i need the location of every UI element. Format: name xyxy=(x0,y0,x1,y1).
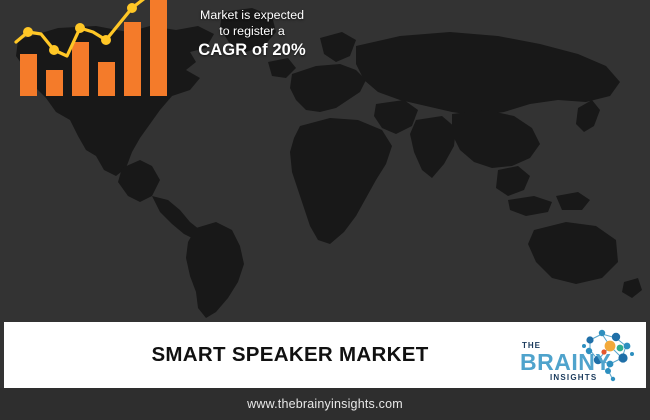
quadrant-component-segment: Based on the Component segment, the Soft… xyxy=(325,160,650,322)
infographic-canvas: Market is expected to register a CAGR of… xyxy=(0,0,650,420)
cagr-line-1: Market is expected xyxy=(176,7,328,23)
cagr-line-2: to register a xyxy=(176,23,328,39)
quadrant-cagr: Market is expected to register a CAGR of… xyxy=(0,0,325,160)
brainy-insights-logo[interactable]: THE BRAINY INSIGHTS xyxy=(516,325,638,385)
growth-bar-line-chart xyxy=(14,0,186,96)
bar-series xyxy=(20,0,167,96)
quadrant-asia-pacific: 44% of the global market share was accou… xyxy=(325,0,650,160)
website-url[interactable]: www.thebrainyinsights.com xyxy=(0,388,650,420)
cagr-value: CAGR of 20% xyxy=(176,40,328,62)
footer-band: SMART SPEAKER MARKET xyxy=(4,322,646,388)
quadrant-market-value: % The market was valued at USD 8 billion… xyxy=(0,160,325,322)
logo-brainy: BRAINY xyxy=(520,349,611,375)
stat-cagr-text: Market is expected to register a CAGR of… xyxy=(176,7,328,62)
logo-insights: INSIGHTS xyxy=(550,373,597,382)
